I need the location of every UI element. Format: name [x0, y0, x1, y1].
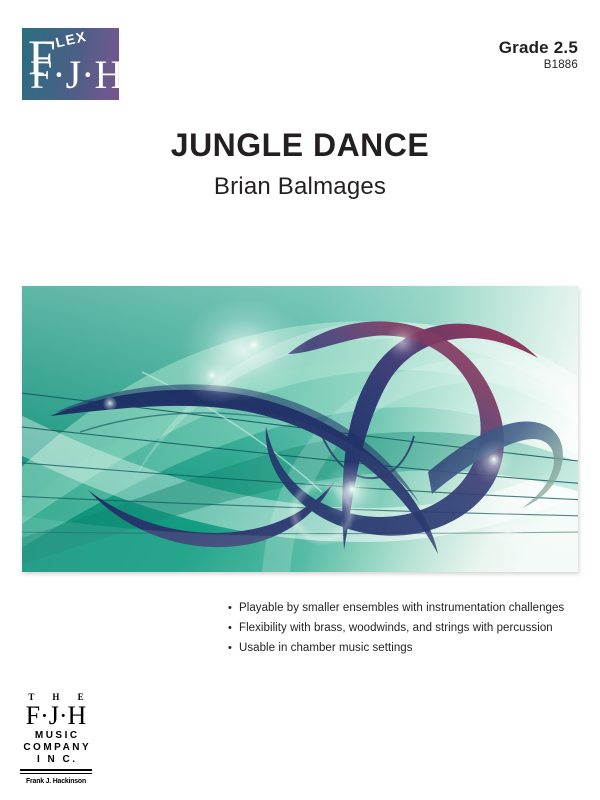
fjh-flex-logo: F LEX F·J·H	[22, 28, 119, 100]
bullet-icon: •	[228, 618, 239, 638]
abstract-wave-illustration	[22, 286, 578, 572]
publisher-line-inc: I N C.	[20, 754, 92, 766]
publisher-divider	[20, 769, 92, 774]
list-item: • Usable in chamber music settings	[228, 638, 588, 658]
cover-header: F LEX F·J·H Grade 2.5 B1886	[0, 0, 600, 120]
list-item: • Flexibility with brass, woodwinds, and…	[228, 618, 588, 638]
publisher-imprint: F·J·H	[20, 702, 92, 730]
feature-text: Usable in chamber music settings	[239, 638, 413, 658]
bullet-icon: •	[228, 638, 239, 658]
feature-list: • Playable by smaller ensembles with ins…	[228, 598, 588, 658]
orb-core-2	[205, 369, 219, 383]
feature-text: Playable by smaller ensembles with instr…	[239, 598, 564, 618]
orb-core-1	[244, 336, 264, 356]
orb-core-7	[103, 397, 117, 411]
flex-logo-imprint: F·J·H	[30, 54, 119, 96]
catalog-number: B1886	[499, 58, 578, 73]
publisher-line-music: MUSIC	[20, 730, 92, 742]
page-title: JUNGLE DANCE	[0, 126, 600, 164]
flex-logo-word: LEX	[54, 28, 89, 51]
feature-text: Flexibility with brass, woodwinds, and s…	[239, 618, 553, 638]
orb-5	[384, 324, 420, 360]
composer-name: Brian Balmages	[0, 170, 600, 204]
publisher-line-company: COMPANY	[20, 742, 92, 754]
title-block: JUNGLE DANCE Brian Balmages	[0, 126, 600, 204]
cover-artwork	[22, 286, 578, 572]
grade-info: Grade 2.5 B1886	[499, 38, 578, 73]
publisher-logo: T H E F·J·H MUSIC COMPANY I N C. Frank J…	[20, 692, 92, 786]
publisher-founder: Frank J. Hackinson	[23, 775, 89, 786]
list-item: • Playable by smaller ensembles with ins…	[228, 598, 588, 618]
orb-core-4	[488, 454, 500, 466]
bullet-icon: •	[228, 598, 239, 618]
grade-level: Grade 2.5	[499, 38, 578, 58]
